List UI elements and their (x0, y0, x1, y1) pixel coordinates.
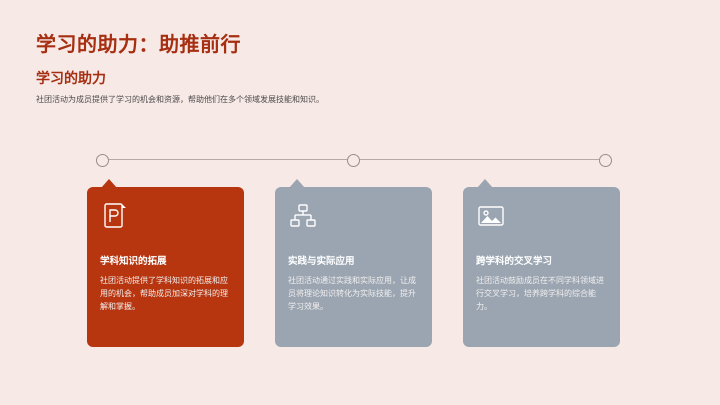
timeline-node-3 (599, 154, 612, 167)
card-2-title: 实践与实际应用 (288, 253, 419, 267)
card-2-pointer (289, 179, 305, 188)
card-2-body: 社团活动通过实践和实际应用，让成员将理论知识转化为实际技能，提升学习效果。 (288, 274, 419, 314)
card-1[interactable]: 学科知识的拓展 社团活动提供了学科知识的拓展和应用的机会，帮助成员加深对学科的理… (87, 187, 244, 347)
presentation-icon (100, 201, 130, 231)
org-chart-icon (288, 201, 318, 231)
card-3-title: 跨学科的交叉学习 (476, 253, 607, 267)
card-3[interactable]: 跨学科的交叉学习 社团活动鼓励成员在不同学科领域进行交叉学习，培养跨学科的综合能… (463, 187, 620, 347)
intro-paragraph: 社团活动为成员提供了学习的机会和资源，帮助他们在多个领域发展技能和知识。 (36, 94, 596, 106)
card-1-body: 社团活动提供了学科知识的拓展和应用的机会，帮助成员加深对学科的理解和掌握。 (100, 274, 231, 314)
card-1-pointer (101, 179, 117, 188)
card-3-pointer (477, 179, 493, 188)
timeline-node-1 (96, 154, 109, 167)
card-2[interactable]: 实践与实际应用 社团活动通过实践和实际应用，让成员将理论知识转化为实际技能，提升… (275, 187, 432, 347)
slide: 学习的助力：助推前行 学习的助力 社团活动为成员提供了学习的机会和资源，帮助他们… (0, 0, 720, 405)
card-3-body: 社团活动鼓励成员在不同学科领域进行交叉学习，培养跨学科的综合能力。 (476, 274, 607, 314)
timeline-node-2 (347, 154, 360, 167)
page-title: 学习的助力：助推前行 (36, 28, 241, 57)
card-1-title: 学科知识的拓展 (100, 253, 231, 267)
timeline (96, 154, 610, 166)
image-icon (476, 201, 506, 231)
section-subtitle: 学习的助力 (36, 68, 106, 88)
